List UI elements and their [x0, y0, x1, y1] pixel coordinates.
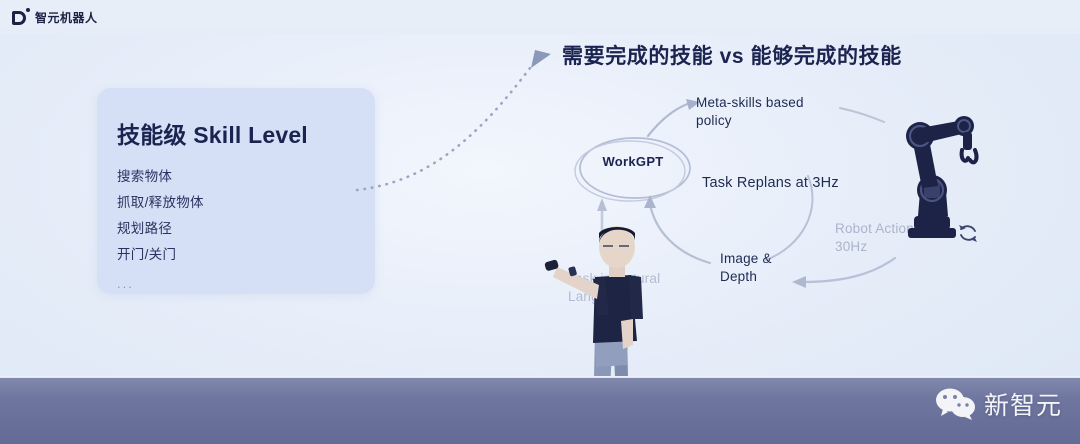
wechat-icon [935, 387, 977, 421]
skill-list: 搜索物体 抓取/释放物体 规划路径 开门/关门 ... [117, 164, 375, 297]
refresh-cycle-icon [955, 222, 981, 248]
agibot-d-logo-icon [12, 9, 29, 26]
list-item-ellipsis: ... [117, 268, 375, 297]
list-item: 搜索物体 [117, 164, 375, 190]
brand-logo: 智元机器人 [12, 9, 98, 26]
stage-floor [0, 378, 1080, 444]
watermark-text: 新智元 [984, 386, 1062, 422]
presentation-stage: 智元机器人 技能级 Skill Level 搜索物体 抓取/释放物体 规划路径 … [0, 0, 1080, 444]
label-image-depth: Image & Depth [720, 250, 800, 286]
watermark: 新智元 [935, 386, 1062, 422]
label-meta-skills: Meta-skills based policy [696, 94, 836, 130]
page-title: 需要完成的技能 vs 能够完成的技能 [562, 40, 902, 70]
brand-name: 智元机器人 [35, 9, 98, 26]
list-item: 抓取/释放物体 [117, 190, 375, 216]
dotted-curve-arrow-icon [355, 42, 570, 202]
list-item: 开门/关门 [117, 242, 375, 268]
slide-header-bar: 智元机器人 [0, 0, 1080, 34]
skill-level-card: 技能级 Skill Level 搜索物体 抓取/释放物体 规划路径 开门/关门 … [97, 88, 375, 294]
list-item: 规划路径 [117, 216, 375, 242]
card-title: 技能级 Skill Level [117, 116, 375, 150]
label-task-replans: Task Replans at 3Hz [702, 174, 839, 194]
workgpt-node-label: WorkGPT [578, 154, 688, 169]
